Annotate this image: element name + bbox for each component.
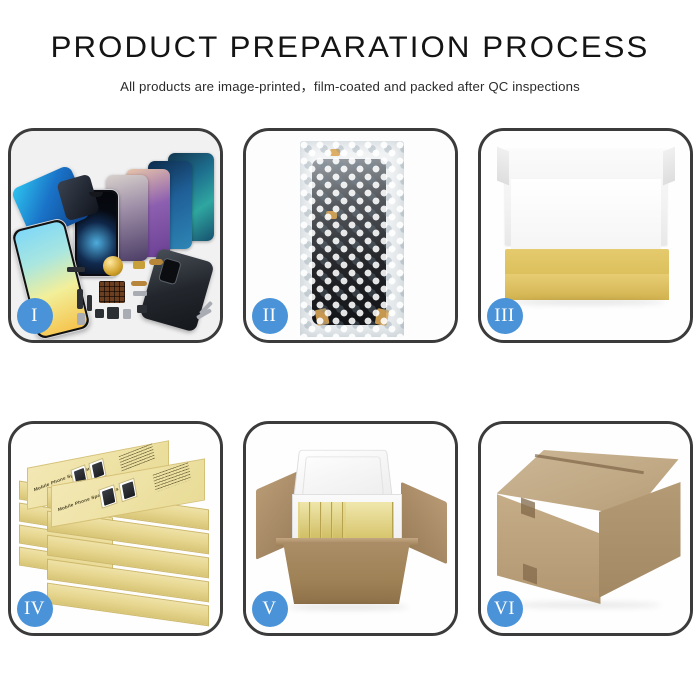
step-badge-3: III xyxy=(487,298,523,334)
box-window-front-1 xyxy=(98,484,117,509)
kraft-box-front-face xyxy=(505,274,669,300)
small-part-speaker xyxy=(123,309,131,319)
small-part-camera xyxy=(107,307,119,319)
small-part-flex-2 xyxy=(131,281,147,286)
carton-front-face xyxy=(278,542,416,604)
small-part-strip xyxy=(77,289,83,309)
step-badge-5: V xyxy=(252,591,288,627)
small-part-sim-tray xyxy=(77,313,85,325)
white-box-interior xyxy=(511,179,661,255)
bubble-highlights xyxy=(300,141,404,337)
step-badge-6: VI xyxy=(487,591,523,627)
box-text-lines-front xyxy=(152,462,191,492)
step-badge-1: I xyxy=(17,298,53,334)
box-drop-shadow xyxy=(509,299,665,305)
process-step-grid: I II III xyxy=(0,128,700,636)
grid-chip-part xyxy=(99,281,125,303)
page-title: PRODUCT PREPARATION PROCESS xyxy=(0,32,700,64)
inner-box-col-4 xyxy=(333,502,343,540)
small-part-strip-2 xyxy=(87,295,92,311)
process-step-panel-2[interactable]: II xyxy=(243,128,458,343)
small-part-bar xyxy=(67,267,85,272)
process-step-panel-6[interactable]: VI xyxy=(478,421,693,636)
small-part-bracket xyxy=(133,291,147,296)
gold-coil-part xyxy=(103,256,123,276)
page-subtitle: All products are image-printed，film-coat… xyxy=(0,76,700,95)
sealed-carton-drop-shadow xyxy=(511,602,661,608)
inner-box-group-right xyxy=(346,502,393,540)
process-step-panel-5[interactable]: V xyxy=(243,421,458,636)
bubble-wrap-pouch xyxy=(300,141,404,337)
page-header: PRODUCT PREPARATION PROCESS All products… xyxy=(0,0,700,95)
process-step-panel-3[interactable]: III xyxy=(478,128,693,343)
retail-box-stack: Mobile Phone Spare Parts Mobile Phone Sp… xyxy=(19,440,219,620)
small-part-gold-clip xyxy=(133,261,145,269)
yellow-boxes-inside-foam xyxy=(298,502,394,540)
box-window-front-2 xyxy=(118,478,137,503)
small-part-flex-cable xyxy=(149,259,163,265)
inner-box-col-2 xyxy=(311,502,321,540)
step-badge-2: II xyxy=(252,298,288,334)
carton-drop-shadow xyxy=(288,604,408,610)
inner-box-col-3 xyxy=(322,502,332,540)
inner-box-col-1 xyxy=(300,502,310,540)
small-part-button xyxy=(137,305,147,313)
small-part-ic xyxy=(95,309,104,318)
process-step-panel-4[interactable]: Mobile Phone Spare Parts Mobile Phone Sp… xyxy=(8,421,223,636)
process-step-panel-1[interactable]: I xyxy=(8,128,223,343)
step-badge-4: IV xyxy=(17,591,53,627)
